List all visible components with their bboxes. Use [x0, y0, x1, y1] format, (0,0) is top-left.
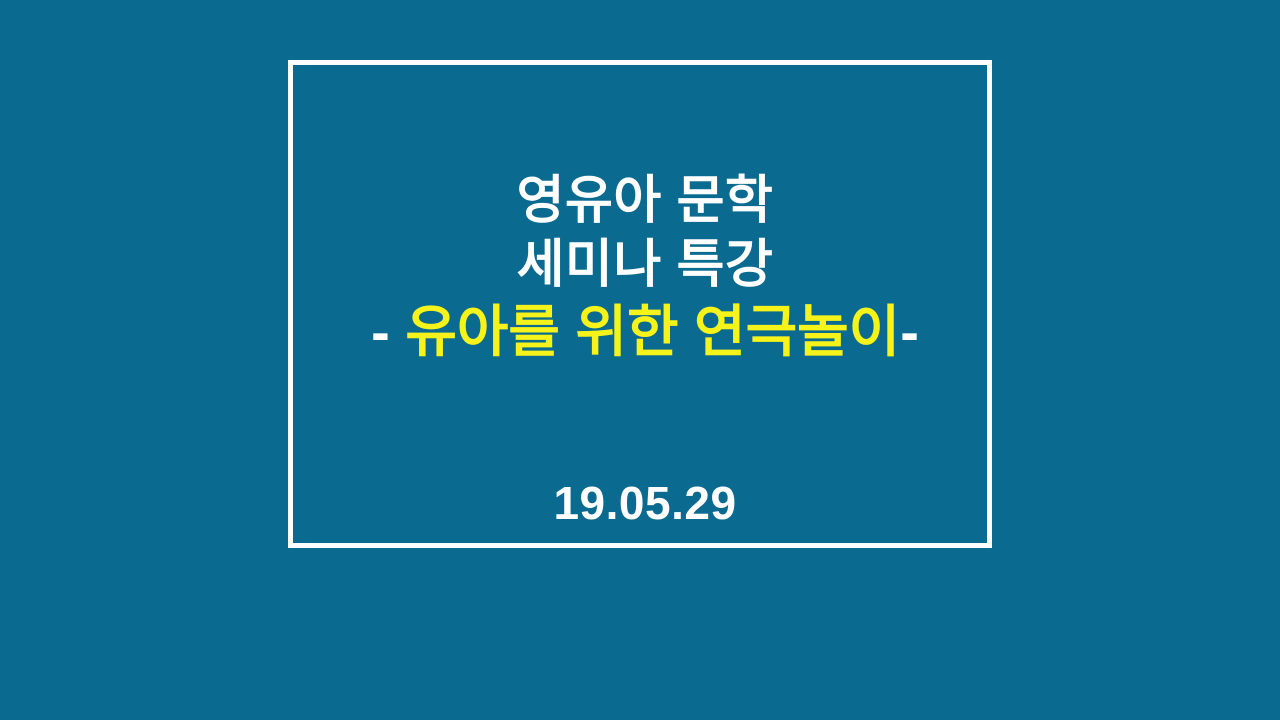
- slide-border-frame: 영유아 문학 세미나 특강 - 유아를 위한 연극놀이- 19.05.29: [288, 60, 992, 548]
- title-slide: 영유아 문학 세미나 특강 - 유아를 위한 연극놀이- 19.05.29: [0, 0, 1280, 720]
- seminar-date: 19.05.29: [553, 478, 736, 528]
- date-text-block: 19.05.29: [293, 65, 997, 528]
